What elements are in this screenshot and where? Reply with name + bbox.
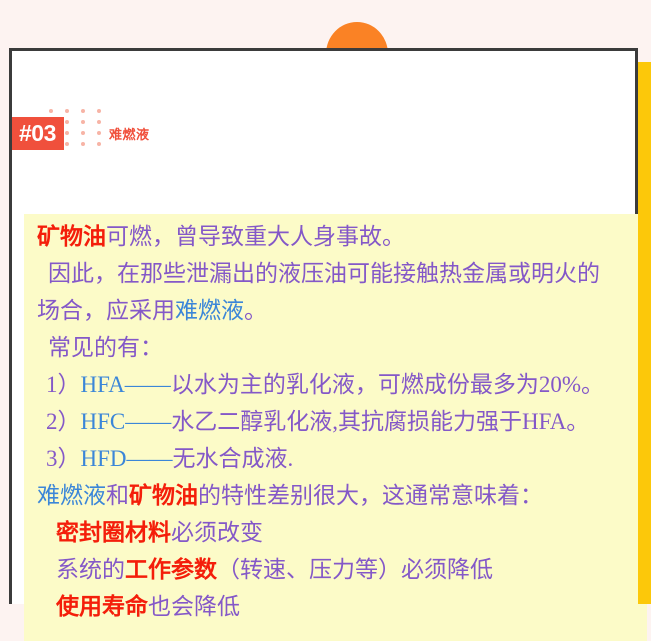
text-line: 因此，在那些泄漏出的液压油可能接触热金属或明火的 xyxy=(24,255,647,292)
text-segment-blue: HFD—— xyxy=(81,446,173,471)
text-segment-purple: 以水为主的乳化液，可燃成份最多为20%。 xyxy=(171,372,604,397)
text-segment-purple: 无水合成液. xyxy=(173,446,294,471)
dot xyxy=(65,131,69,135)
text-segment-red: 密封圈材料 xyxy=(56,520,171,545)
text-segment-purple: 和 xyxy=(106,483,129,508)
slide-card: #03 难燃液 矿物油可燃，曾导致重大人身事故。因此，在那些泄漏出的液压油可能接… xyxy=(9,48,638,604)
section-title: 难燃液 xyxy=(109,124,150,143)
text-segment-purple: 水乙二醇乳化液,其抗腐损能力强于HFA。 xyxy=(171,409,589,434)
text-line: 场合，应采用难燃液。 xyxy=(24,292,647,329)
text-segment-purple: 1） xyxy=(46,372,81,397)
text-segment-blue: HFC—— xyxy=(81,409,172,434)
text-segment-purple: 也会降低 xyxy=(148,594,240,619)
text-segment-purple: 场合，应采用 xyxy=(37,298,175,323)
text-line: 密封圈材料必须改变 xyxy=(24,514,647,551)
dot xyxy=(81,142,85,146)
dot xyxy=(97,109,101,113)
dot xyxy=(81,109,85,113)
text-segment-red: 工作参数 xyxy=(125,557,217,582)
dot xyxy=(97,142,101,146)
dot xyxy=(97,120,101,124)
dot xyxy=(65,120,69,124)
text-segment-purple: （转速、压力等）必须降低 xyxy=(217,557,493,582)
text-segment-purple: 的特性差别很大，这通常意味着： xyxy=(198,483,543,508)
text-line: 常见的有： xyxy=(24,329,647,366)
dot xyxy=(81,131,85,135)
text-line: 1）HFA——以水为主的乳化液，可燃成份最多为20%。 xyxy=(24,366,647,403)
text-line: 矿物油可燃，曾导致重大人身事故。 xyxy=(24,218,647,255)
text-segment-red: 使用寿命 xyxy=(56,594,148,619)
dot xyxy=(49,109,53,113)
dot xyxy=(65,142,69,146)
text-segment-purple: 因此，在那些泄漏出的液压油可能接触热金属或明火的 xyxy=(48,261,600,286)
dot xyxy=(97,131,101,135)
dot xyxy=(65,109,69,113)
text-segment-blue: HFA—— xyxy=(81,372,171,397)
section-header: #03 难燃液 xyxy=(12,117,635,153)
content-panel: 矿物油可燃，曾导致重大人身事故。因此，在那些泄漏出的液压油可能接触热金属或明火的… xyxy=(24,214,647,641)
text-line: 系统的工作参数（转速、压力等）必须降低 xyxy=(24,551,647,588)
section-number-badge: #03 xyxy=(12,117,64,150)
gold-accent-bar xyxy=(638,62,651,604)
text-line: 难燃液和矿物油的特性差别很大，这通常意味着： xyxy=(24,477,647,514)
text-segment-purple: 常见的有： xyxy=(48,335,163,360)
text-line: 2）HFC——水乙二醇乳化液,其抗腐损能力强于HFA。 xyxy=(24,403,647,440)
content-lines: 矿物油可燃，曾导致重大人身事故。因此，在那些泄漏出的液压油可能接触热金属或明火的… xyxy=(24,218,647,625)
text-segment-purple: 3） xyxy=(46,446,81,471)
text-segment-purple: 。 xyxy=(244,298,267,323)
text-segment-red: 矿物油 xyxy=(129,483,198,508)
text-segment-blue: 难燃液 xyxy=(37,483,106,508)
text-segment-purple: 必须改变 xyxy=(171,520,263,545)
text-line: 使用寿命也会降低 xyxy=(24,588,647,625)
text-segment-purple: 2） xyxy=(46,409,81,434)
text-segment-purple: 系统的 xyxy=(56,557,125,582)
dot xyxy=(81,120,85,124)
text-line: 3）HFD——无水合成液. xyxy=(24,440,647,477)
text-segment-blue: 难燃液 xyxy=(175,298,244,323)
text-segment-red: 矿物油 xyxy=(37,224,106,249)
text-segment-purple: 可燃，曾导致重大人身事故。 xyxy=(106,224,405,249)
